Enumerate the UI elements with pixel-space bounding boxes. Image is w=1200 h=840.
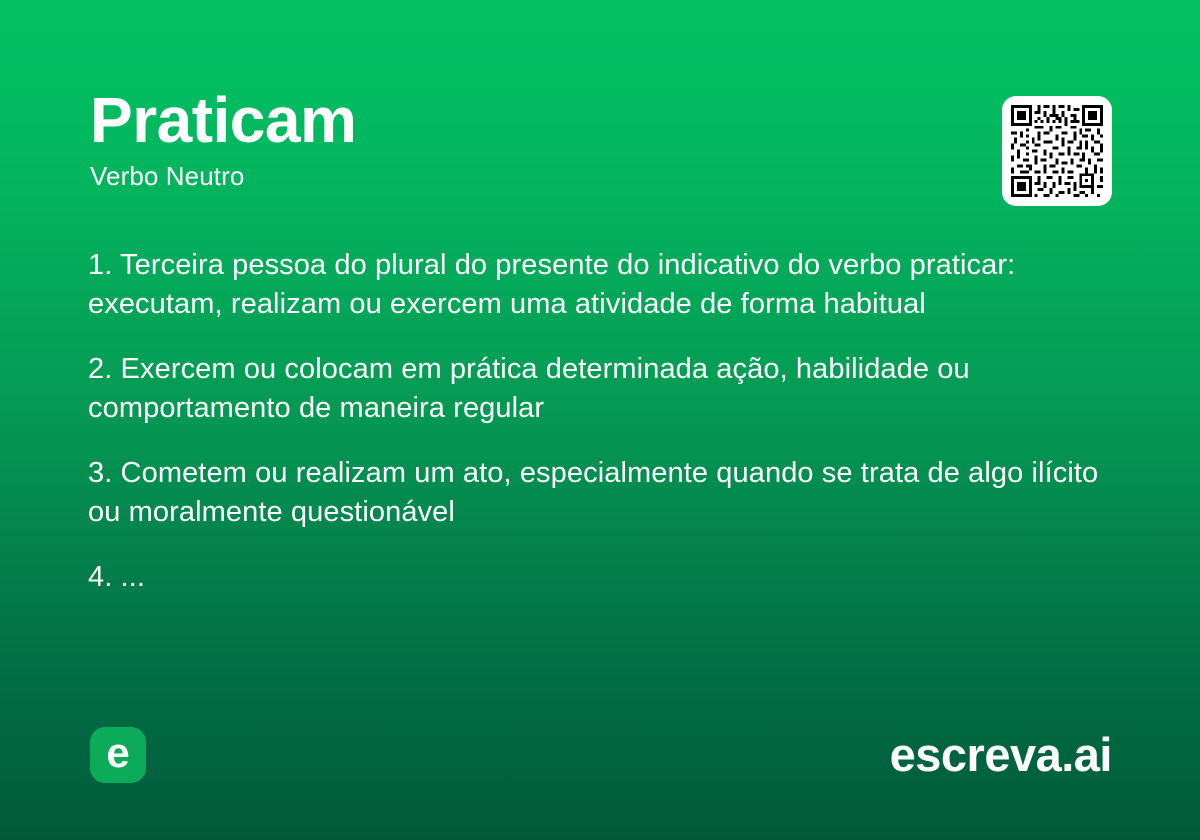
- qr-code-icon[interactable]: [1002, 96, 1112, 206]
- logo-letter: e: [106, 732, 129, 774]
- dictionary-card: Praticam Verbo Neutro: [0, 0, 1200, 840]
- definition-item: 1. Terceira pessoa do plural do presente…: [88, 246, 1112, 324]
- definition-list: 1. Terceira pessoa do plural do presente…: [88, 246, 1112, 597]
- card-footer: e escreva.ai: [90, 726, 1112, 784]
- brand-wordmark: escreva.ai: [890, 730, 1112, 780]
- definition-item: 2. Exercem ou colocam em prática determi…: [88, 350, 1112, 428]
- definition-item: 3. Cometem ou realizam um ato, especialm…: [88, 454, 1112, 532]
- escreva-logo-icon: e: [90, 727, 146, 783]
- page-title: Praticam: [90, 86, 1110, 154]
- card-header: Praticam Verbo Neutro: [90, 86, 1110, 192]
- definition-item: 4. ...: [88, 558, 1112, 597]
- word-class-subtitle: Verbo Neutro: [90, 160, 1110, 192]
